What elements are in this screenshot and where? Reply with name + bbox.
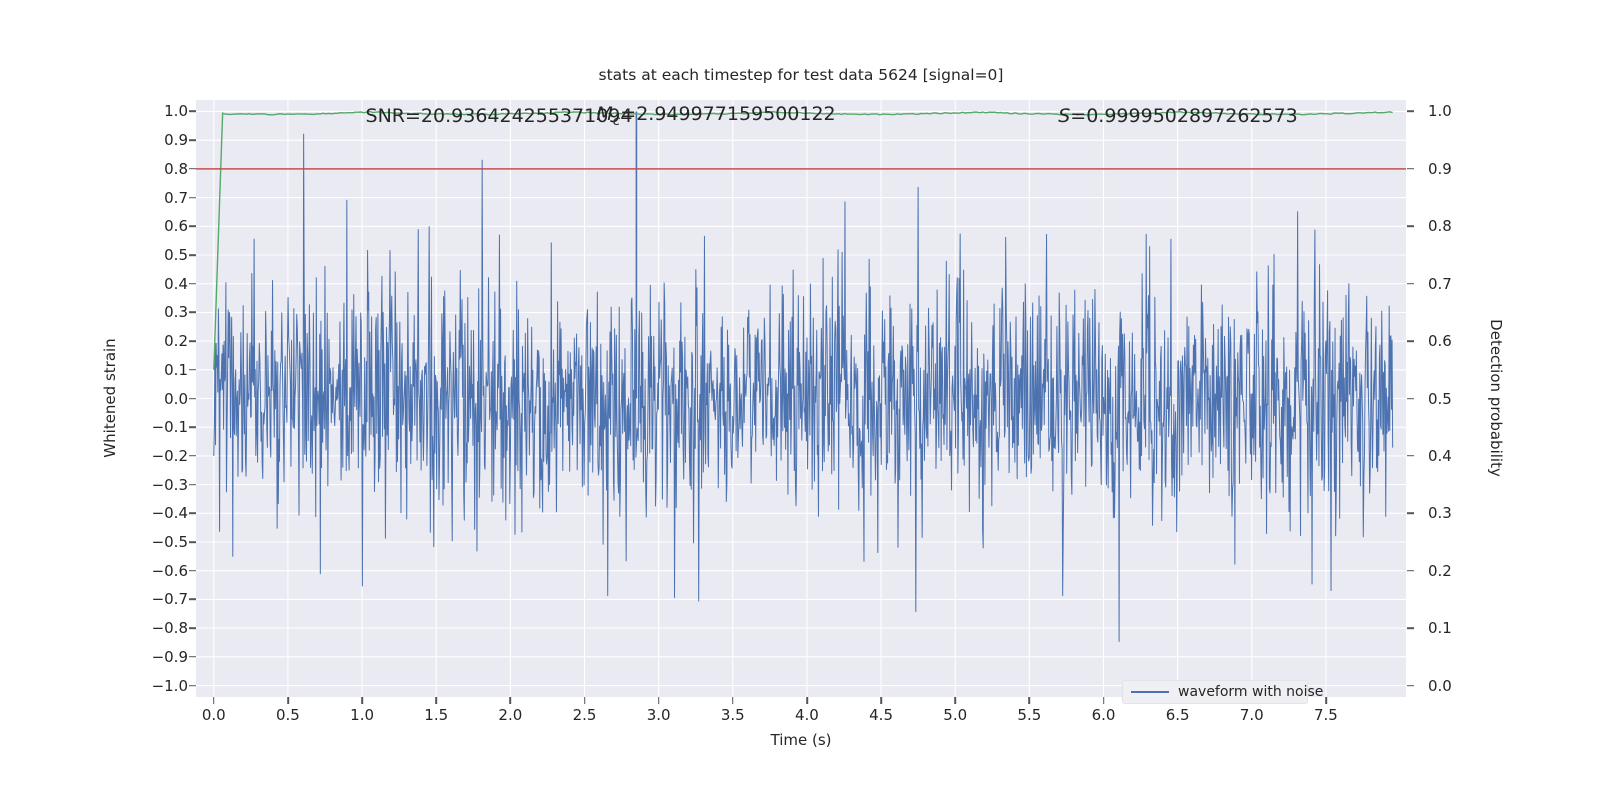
legend-swatch-waveform bbox=[1131, 691, 1169, 693]
y-tick-mark-right bbox=[1407, 455, 1414, 457]
x-tick-label: 5.5 bbox=[1017, 706, 1041, 724]
y-tick-mark-right bbox=[1407, 283, 1414, 285]
x-tick-label: 4.0 bbox=[795, 706, 819, 724]
y-tick-mark-left bbox=[189, 254, 196, 256]
y-tick-label-right: 0.9 bbox=[1428, 160, 1452, 178]
y-tick-mark-left bbox=[189, 570, 196, 572]
y-tick-label-left: −0.1 bbox=[152, 418, 188, 436]
y-tick-label-left: −0.3 bbox=[152, 476, 188, 494]
y-axis-label-right: Detection probability bbox=[1487, 319, 1505, 477]
x-tick-label: 2.5 bbox=[573, 706, 597, 724]
y-tick-label-right: 0.8 bbox=[1428, 217, 1452, 235]
y-tick-label-left: −0.2 bbox=[152, 447, 188, 465]
y-tick-label-left: −0.6 bbox=[152, 562, 188, 580]
x-tick-label: 1.5 bbox=[424, 706, 448, 724]
y-tick-mark-right bbox=[1407, 627, 1414, 629]
x-tick-label: 2.0 bbox=[498, 706, 522, 724]
y-tick-mark-left bbox=[189, 283, 196, 285]
x-tick-mark bbox=[213, 697, 215, 704]
y-tick-label-right: 1.0 bbox=[1428, 102, 1452, 120]
y-tick-label-right: 0.7 bbox=[1428, 275, 1452, 293]
y-tick-mark-right bbox=[1407, 340, 1414, 342]
y-tick-mark-left bbox=[189, 312, 196, 314]
y-tick-mark-left bbox=[189, 398, 196, 400]
x-tick-label: 7.0 bbox=[1240, 706, 1264, 724]
y-tick-mark-left bbox=[189, 225, 196, 227]
y-axis-label-left: Whitened strain bbox=[101, 338, 119, 457]
x-tick-mark bbox=[880, 697, 882, 704]
y-tick-mark-left bbox=[189, 627, 196, 629]
y-tick-mark-left bbox=[189, 455, 196, 457]
x-tick-mark bbox=[584, 697, 586, 704]
y-tick-label-left: −1.0 bbox=[152, 677, 188, 695]
y-tick-mark-left bbox=[189, 513, 196, 515]
y-tick-label-left: −0.4 bbox=[152, 504, 188, 522]
y-tick-mark-left bbox=[189, 541, 196, 543]
y-tick-mark-left bbox=[189, 685, 196, 687]
y-tick-mark-right bbox=[1407, 168, 1414, 170]
x-tick-mark bbox=[658, 697, 660, 704]
annotation-snr: SNR=20.936424255371094 bbox=[366, 105, 633, 127]
y-tick-mark-right bbox=[1407, 570, 1414, 572]
x-tick-label: 6.5 bbox=[1166, 706, 1190, 724]
x-tick-mark bbox=[1103, 697, 1105, 704]
data-layer bbox=[196, 100, 1406, 697]
y-tick-label-left: −0.8 bbox=[152, 619, 188, 637]
x-tick-label: 3.5 bbox=[721, 706, 745, 724]
y-tick-label-left: 0.8 bbox=[164, 160, 188, 178]
x-tick-mark bbox=[435, 697, 437, 704]
y-tick-mark-left bbox=[189, 111, 196, 113]
y-tick-label-left: 0.9 bbox=[164, 131, 188, 149]
y-tick-label-right: 0.4 bbox=[1428, 447, 1452, 465]
y-tick-label-right: 0.0 bbox=[1428, 677, 1452, 695]
y-tick-label-left: −0.9 bbox=[152, 648, 188, 666]
y-tick-mark-right bbox=[1407, 685, 1414, 687]
y-tick-mark-left bbox=[189, 369, 196, 371]
x-tick-mark bbox=[806, 697, 808, 704]
y-tick-label-left: 0.3 bbox=[164, 303, 188, 321]
y-tick-mark-left bbox=[189, 484, 196, 486]
x-tick-label: 0.5 bbox=[276, 706, 300, 724]
y-tick-label-right: 0.2 bbox=[1428, 562, 1452, 580]
y-tick-label-left: 0.6 bbox=[164, 217, 188, 235]
y-tick-mark-right bbox=[1407, 513, 1414, 515]
y-tick-mark-left bbox=[189, 426, 196, 428]
legend-label-waveform: waveform with noise bbox=[1178, 684, 1323, 700]
waveform-with-noise-line bbox=[214, 134, 1393, 641]
x-tick-label: 4.5 bbox=[869, 706, 893, 724]
y-tick-mark-left bbox=[189, 599, 196, 601]
legend: waveform with noise bbox=[1122, 680, 1308, 704]
y-tick-label-left: −0.5 bbox=[152, 533, 188, 551]
y-tick-label-left: 0.7 bbox=[164, 189, 188, 207]
y-tick-label-left: −0.7 bbox=[152, 590, 188, 608]
y-tick-label-left: 0.5 bbox=[164, 246, 188, 264]
y-tick-mark-left bbox=[189, 340, 196, 342]
y-tick-label-right: 0.3 bbox=[1428, 504, 1452, 522]
y-tick-mark-left bbox=[189, 139, 196, 141]
y-tick-label-right: 0.6 bbox=[1428, 332, 1452, 350]
annotation-score: S=0.9999502897262573 bbox=[1058, 105, 1298, 127]
y-tick-label-left: 0.2 bbox=[164, 332, 188, 350]
x-tick-mark bbox=[287, 697, 289, 704]
y-tick-label-left: 0.4 bbox=[164, 275, 188, 293]
y-tick-label-left: 0.0 bbox=[164, 390, 188, 408]
y-tick-label-right: 0.5 bbox=[1428, 390, 1452, 408]
x-tick-label: 1.0 bbox=[350, 706, 374, 724]
plot-area: SNR=20.936424255371094 Mc=2.949977159500… bbox=[196, 100, 1406, 697]
y-tick-label-left: 1.0 bbox=[164, 102, 188, 120]
figure-canvas: stats at each timestep for test data 562… bbox=[0, 0, 1600, 800]
x-tick-label: 0.0 bbox=[202, 706, 226, 724]
y-tick-label-left: 0.1 bbox=[164, 361, 188, 379]
y-tick-mark-right bbox=[1407, 398, 1414, 400]
x-tick-mark bbox=[1325, 697, 1327, 704]
x-tick-mark bbox=[510, 697, 512, 704]
y-tick-mark-right bbox=[1407, 225, 1414, 227]
x-tick-label: 7.5 bbox=[1314, 706, 1338, 724]
x-tick-label: 3.0 bbox=[647, 706, 671, 724]
chart-title: stats at each timestep for test data 562… bbox=[196, 66, 1406, 84]
x-tick-mark bbox=[732, 697, 734, 704]
y-tick-mark-left bbox=[189, 197, 196, 199]
y-tick-mark-right bbox=[1407, 111, 1414, 113]
y-tick-mark-left bbox=[189, 168, 196, 170]
x-tick-mark bbox=[1029, 697, 1031, 704]
x-axis-label: Time (s) bbox=[196, 731, 1406, 749]
y-tick-mark-left bbox=[189, 656, 196, 658]
y-tick-label-right: 0.1 bbox=[1428, 619, 1452, 637]
annotation-chirp-mass: Mc=2.949977159500122 bbox=[596, 103, 835, 129]
x-tick-mark bbox=[954, 697, 956, 704]
x-tick-label: 5.0 bbox=[943, 706, 967, 724]
x-tick-label: 6.0 bbox=[1092, 706, 1116, 724]
x-tick-mark bbox=[361, 697, 363, 704]
